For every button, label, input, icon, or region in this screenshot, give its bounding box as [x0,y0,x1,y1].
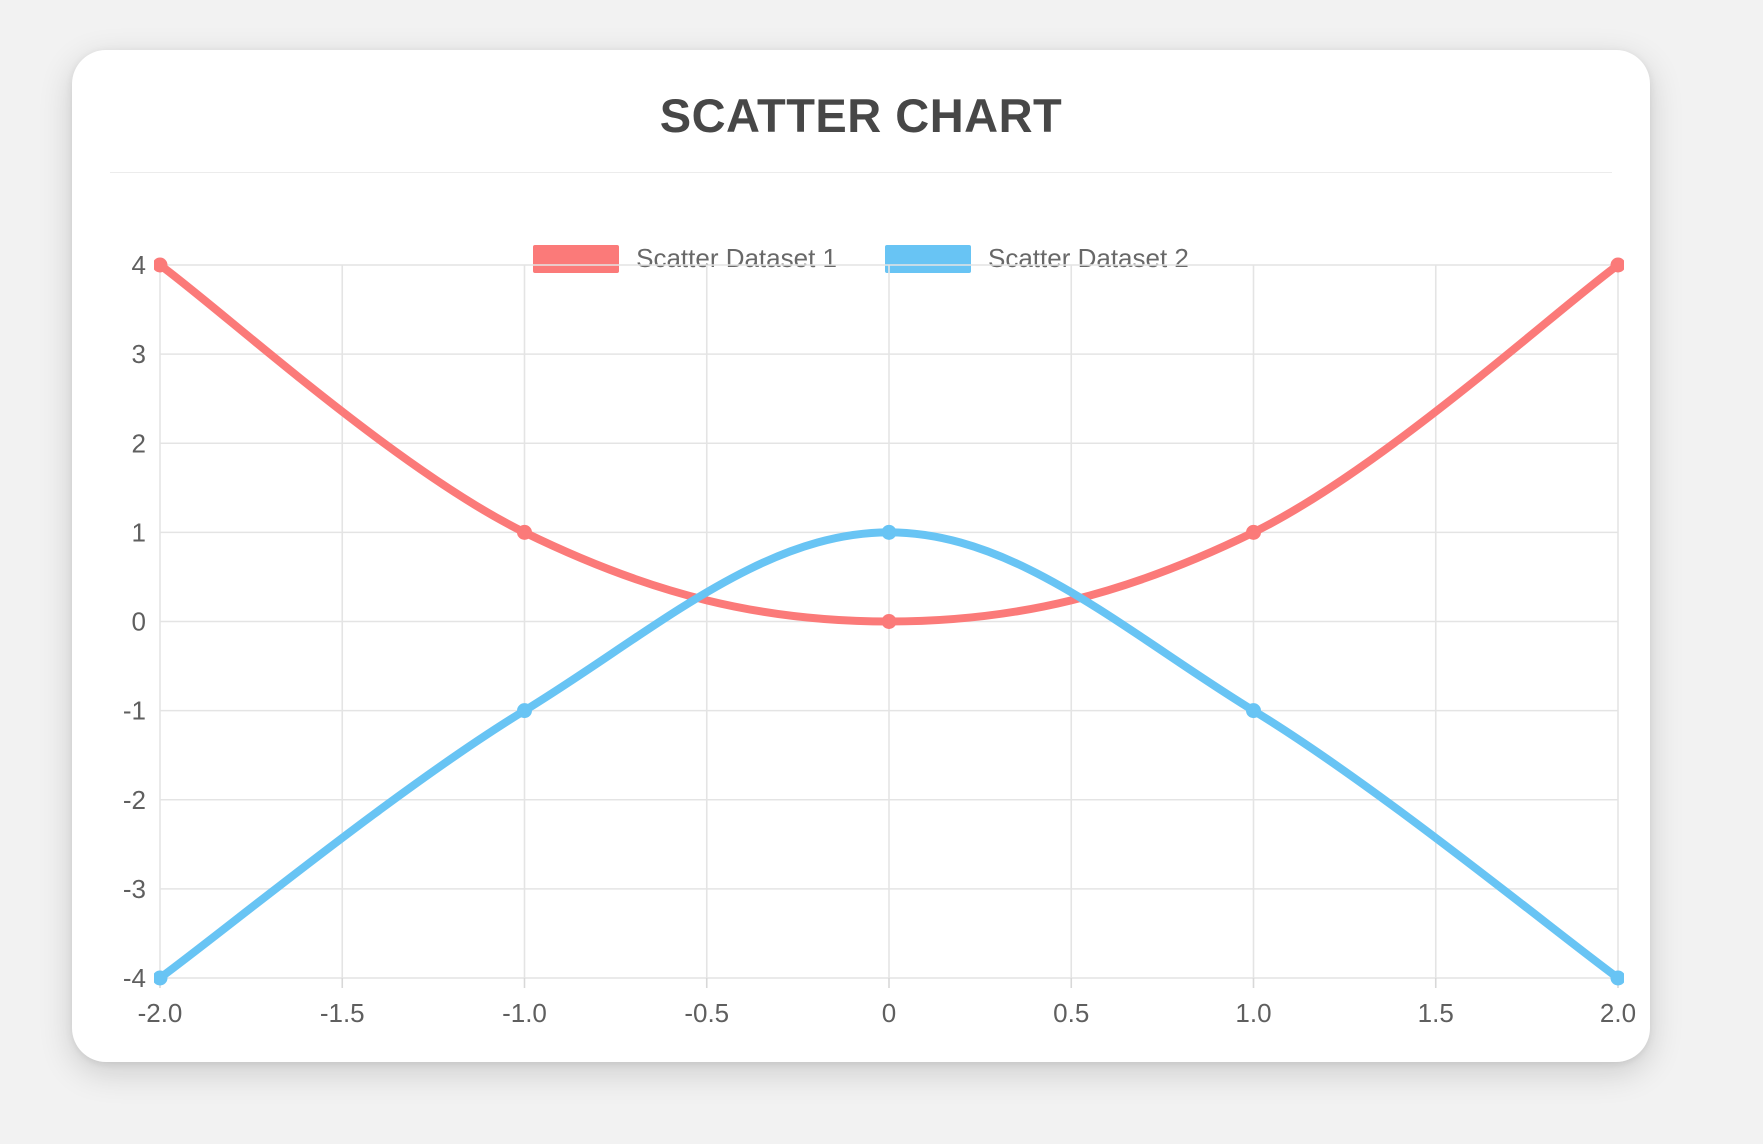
chart-page: SCATTER CHART Scatter Dataset 1 Scatter … [0,0,1763,1144]
data-point-marker[interactable] [882,614,897,629]
x-axis-tick-label: -0.5 [684,998,729,1028]
scatter-plot-svg: 43210-1-2-3-4-2.0-1.5-1.0-0.500.51.01.52… [72,50,1650,1062]
y-axis-tick-label: 3 [132,339,146,369]
x-axis-tick-label: -1.0 [502,998,547,1028]
data-point-marker[interactable] [517,703,532,718]
legend-label-dataset-2: Scatter Dataset 2 [988,243,1189,274]
series-2 [153,525,1626,986]
page-title: SCATTER CHART [72,88,1650,143]
x-axis-tick-label: 1.0 [1235,998,1271,1028]
x-axis-tick-label: -1.5 [320,998,365,1028]
x-axis-tick-label: 0 [882,998,896,1028]
legend-swatch-dataset-1 [533,245,619,273]
legend-label-dataset-1: Scatter Dataset 1 [636,243,837,274]
data-point-marker[interactable] [1246,525,1261,540]
series-line [160,265,1618,622]
chart-legend: Scatter Dataset 1 Scatter Dataset 2 [72,243,1650,274]
series-1 [153,258,1626,630]
x-axis-tick-label: 2.0 [1600,998,1636,1028]
legend-item-dataset-2[interactable]: Scatter Dataset 2 [885,243,1189,274]
x-axis-tick-label: -2.0 [138,998,183,1028]
legend-swatch-dataset-2 [885,245,971,273]
series-line [160,532,1618,978]
y-axis-tick-label: -2 [123,785,146,815]
chart-card: SCATTER CHART Scatter Dataset 1 Scatter … [72,50,1650,1062]
data-point-marker[interactable] [1611,971,1626,986]
y-axis-tick-label: 2 [132,428,146,458]
y-axis-tick-label: 0 [132,607,146,637]
plot-area: 43210-1-2-3-4-2.0-1.5-1.0-0.500.51.01.52… [72,50,1650,1062]
data-point-marker[interactable] [153,971,168,986]
data-point-marker[interactable] [1246,703,1261,718]
y-axis-tick-label: -3 [123,874,146,904]
x-axis-tick-label: 0.5 [1053,998,1089,1028]
x-axis-tick-label: 1.5 [1418,998,1454,1028]
y-axis-tick-label: -1 [123,696,146,726]
title-divider [110,172,1612,173]
data-point-marker[interactable] [517,525,532,540]
data-point-marker[interactable] [882,525,897,540]
legend-item-dataset-1[interactable]: Scatter Dataset 1 [533,243,837,274]
y-axis-tick-label: -4 [123,963,146,993]
y-axis-tick-label: 1 [132,517,146,547]
